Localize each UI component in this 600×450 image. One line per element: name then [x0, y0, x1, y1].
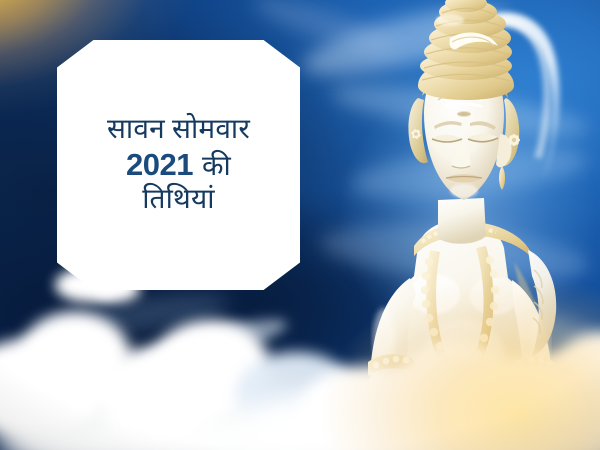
title-line-3: तिथियां	[142, 184, 214, 215]
title-line-2-suffix: की	[202, 151, 231, 182]
poster-canvas: सावन सोमवार 2021 की तिथियां	[0, 0, 600, 450]
title-year: 2021	[126, 148, 193, 183]
title-line-1: सावन सोमवार	[107, 114, 250, 145]
title-card-text: सावन सोमवार 2021 की तिथियां	[95, 114, 262, 215]
title-line-2: 2021 की	[126, 148, 231, 183]
title-card: सावन सोमवार 2021 की तिथियां	[57, 40, 300, 290]
